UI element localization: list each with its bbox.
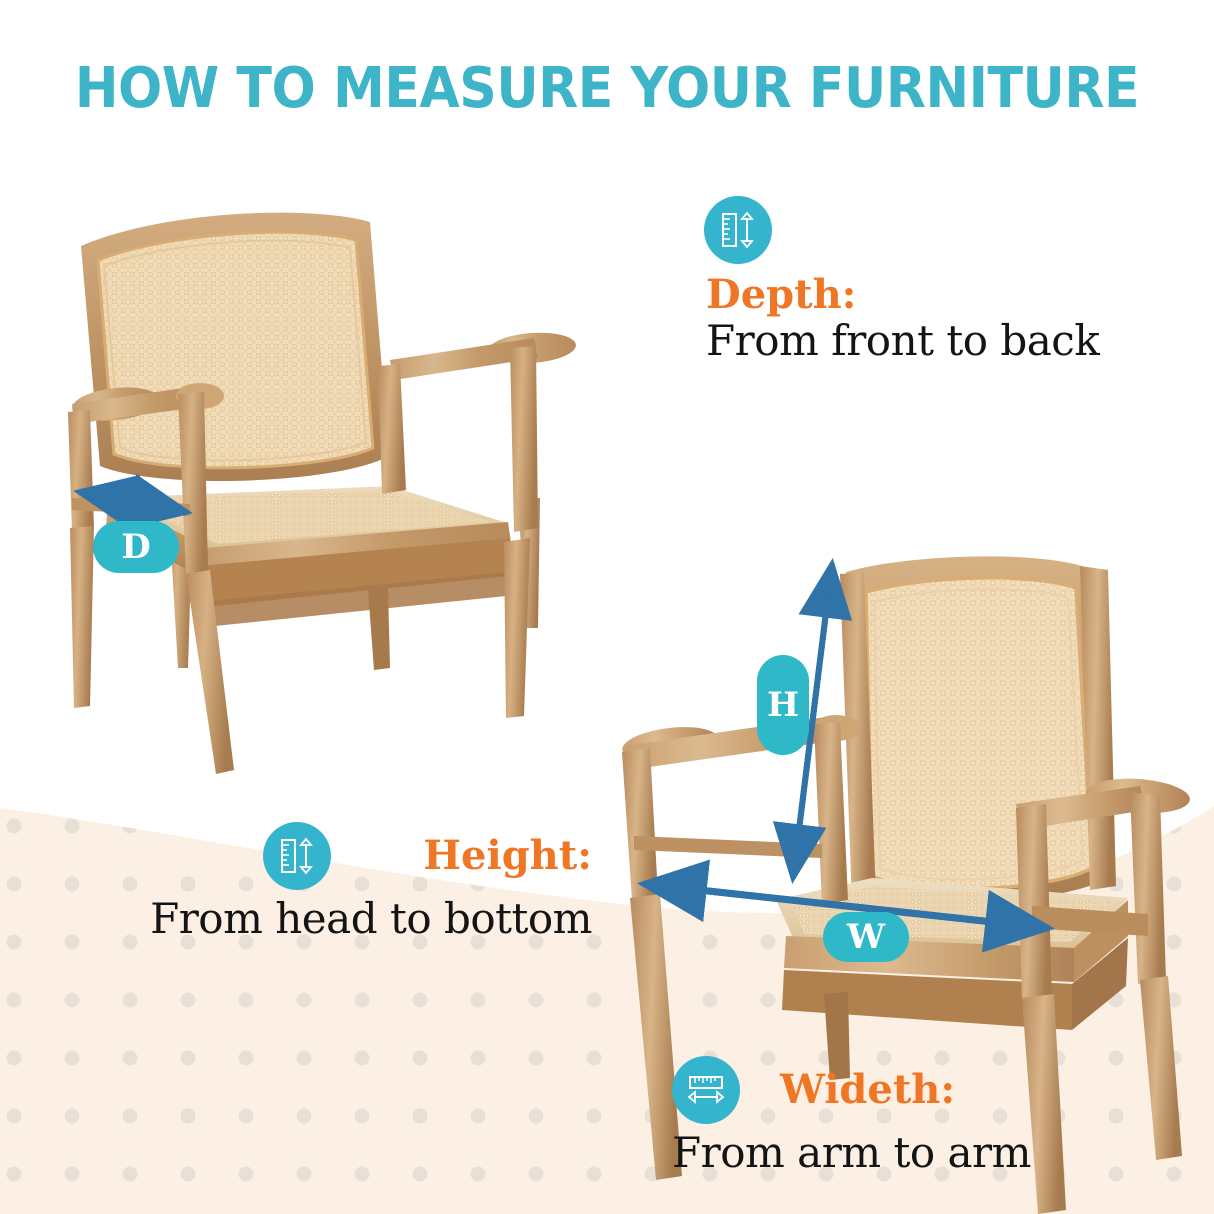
width-badge: W [823, 912, 909, 962]
infographic-canvas: HOW TO MEASURE YOUR FURNITURE [0, 0, 1214, 1214]
height-badge: H [757, 655, 809, 755]
horizontal-ruler-icon [672, 1056, 740, 1124]
vertical-ruler-icon [704, 196, 772, 264]
height-label: Height: [423, 835, 592, 877]
height-info-block: Height: From head to bottom [140, 822, 592, 942]
vertical-ruler-icon [263, 822, 331, 890]
height-badge-letter: H [767, 685, 799, 725]
depth-label: Depth: [706, 274, 1099, 316]
wideth-label: Wideth: [780, 1069, 955, 1111]
wideth-info-block: Wideth: From arm to arm [672, 1056, 1072, 1176]
height-description: From head to bottom [140, 896, 592, 942]
depth-arrow [38, 198, 598, 808]
depth-description: From front to back [706, 318, 1099, 364]
depth-badge: D [93, 521, 179, 573]
wideth-description: From arm to arm [672, 1130, 1072, 1176]
depth-info-block: Depth: From front to back [704, 196, 1099, 364]
page-title: HOW TO MEASURE YOUR FURNITURE [42, 56, 1171, 121]
